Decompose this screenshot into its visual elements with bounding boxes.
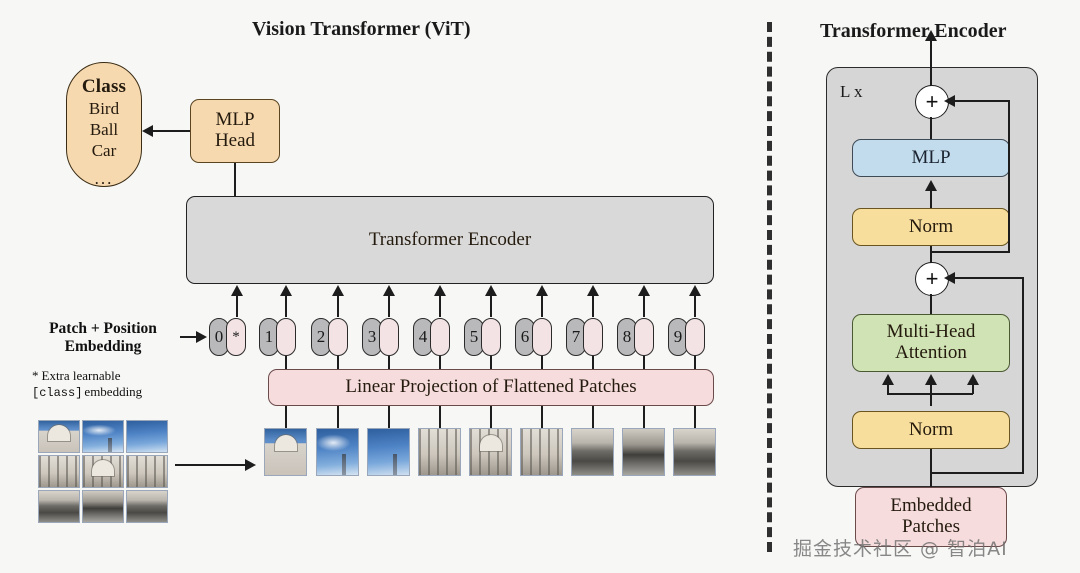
multi-head-attention-block: Multi-Head Attention [852, 314, 1010, 372]
residual-skip-lower-arrowhead [944, 272, 955, 284]
class-output-oval: Class Bird Ball Car ... [66, 62, 142, 187]
token-2-embedding [328, 318, 348, 356]
grid-to-strip-line [175, 464, 247, 466]
mlp-to-add-line [930, 117, 932, 139]
token-3[interactable]: 3 [362, 318, 399, 356]
source-patch-2-1 [82, 490, 124, 523]
token-0[interactable]: 0 * [209, 318, 246, 356]
patch-position-embedding-caption: Patch + Position Embedding [28, 320, 178, 357]
strip-patch-4 [418, 428, 461, 476]
norm-top-block: Norm [852, 208, 1010, 246]
token-1[interactable]: 1 [259, 318, 296, 356]
residual-skip-upper-vertical [1008, 100, 1010, 252]
source-patch-2-0 [38, 490, 80, 523]
source-patch-1-2 [126, 455, 168, 488]
residual-skip-upper-horizontal [950, 100, 1010, 102]
extra-learnable-line2: embedding [84, 384, 142, 400]
token-7[interactable]: 7 [566, 318, 603, 356]
mlp-head-box: MLP Head [190, 99, 280, 163]
token-6[interactable]: 6 [515, 318, 552, 356]
source-patch-0-2 [126, 420, 168, 453]
strip-patch-9 [673, 428, 716, 476]
token-8[interactable]: 8 [617, 318, 654, 356]
class-item-bird: Bird [89, 99, 119, 119]
diagram-canvas: Vision Transformer (ViT) Class Bird Ball… [0, 0, 1080, 573]
residual-skip-lower-tap [930, 472, 1024, 474]
strip-patch-8 [622, 428, 665, 476]
strip-patch-2 [316, 428, 359, 476]
mlp-to-class-arrowhead [142, 125, 153, 137]
extra-learnable-caption: * Extra learnable [class] embedding [32, 368, 192, 401]
strip-patch-3 [367, 428, 410, 476]
mlp-head-line2: Head [215, 131, 255, 152]
residual-add-bottom-symbol: + [926, 268, 939, 290]
class-oval-title: Class [82, 76, 126, 98]
extra-learnable-star: * [32, 368, 39, 384]
extra-learnable-mono: [class] [32, 386, 82, 401]
strip-patch-1 [264, 428, 307, 476]
right-panel-title: Transformer Encoder [820, 20, 1006, 43]
residual-add-top-symbol: + [926, 91, 939, 113]
token-2[interactable]: 2 [311, 318, 348, 356]
left-panel-title: Vision Transformer (ViT) [252, 18, 471, 41]
mlp-block: MLP [852, 139, 1010, 177]
attention-line2: Attention [895, 343, 967, 364]
class-item-ball: Ball [90, 120, 118, 140]
residual-skip-upper-tap [930, 251, 1010, 253]
mlp-to-class-line [152, 130, 190, 132]
grid-to-strip-arrowhead [245, 459, 256, 471]
repeat-count-label: L x [840, 82, 863, 102]
normtop-to-mlp-arrowhead [925, 180, 937, 191]
class-item-car: Car [92, 141, 117, 161]
token-7-embedding [583, 318, 603, 356]
source-patch-2-2 [126, 490, 168, 523]
watermark-text: 掘金技术社区 @ 智泊AI [793, 534, 1008, 561]
token-3-embedding [379, 318, 399, 356]
source-patch-0-1 [82, 420, 124, 453]
source-patch-1-1 [82, 455, 124, 488]
class-ellipsis: ... [95, 169, 114, 189]
embedding-caption-line1: Patch + Position [28, 320, 178, 338]
token-9-embedding [685, 318, 705, 356]
embedding-caption-line2: Embedding [28, 338, 178, 356]
mlp-head-line1: MLP [215, 110, 254, 131]
token-4[interactable]: 4 [413, 318, 450, 356]
caption-to-token-arrowhead [196, 331, 207, 343]
token-5[interactable]: 5 [464, 318, 501, 356]
token-0-embedding: * [226, 318, 246, 356]
extra-learnable-line1: Extra learnable [42, 368, 121, 384]
transformer-encoder-box: Transformer Encoder [186, 196, 714, 284]
token-5-embedding [481, 318, 501, 356]
source-patch-0-0 [38, 420, 80, 453]
encoder-to-mlp-line [234, 163, 236, 197]
token-4-embedding [430, 318, 450, 356]
mha-to-add-line [930, 294, 932, 314]
residual-skip-upper-arrowhead [944, 95, 955, 107]
strip-patch-6 [520, 428, 563, 476]
source-patch-1-0 [38, 455, 80, 488]
encoder-output-arrowhead [925, 30, 937, 41]
token-6-embedding [532, 318, 552, 356]
token-8-embedding [634, 318, 654, 356]
token-9[interactable]: 9 [668, 318, 705, 356]
normtop-to-mlp-line [930, 188, 932, 208]
embedded-patches-line1: Embedded [890, 496, 971, 517]
strip-patch-5 [469, 428, 512, 476]
residual-skip-lower-horizontal [950, 277, 1024, 279]
norm-bottom-block: Norm [852, 411, 1010, 449]
encoder-output-line [930, 38, 932, 86]
linear-projection-box: Linear Projection of Flattened Patches [268, 369, 714, 406]
panel-divider [767, 22, 772, 552]
token-1-embedding [276, 318, 296, 356]
residual-skip-lower-vertical [1022, 277, 1024, 473]
attention-line1: Multi-Head [887, 322, 976, 343]
strip-patch-7 [571, 428, 614, 476]
